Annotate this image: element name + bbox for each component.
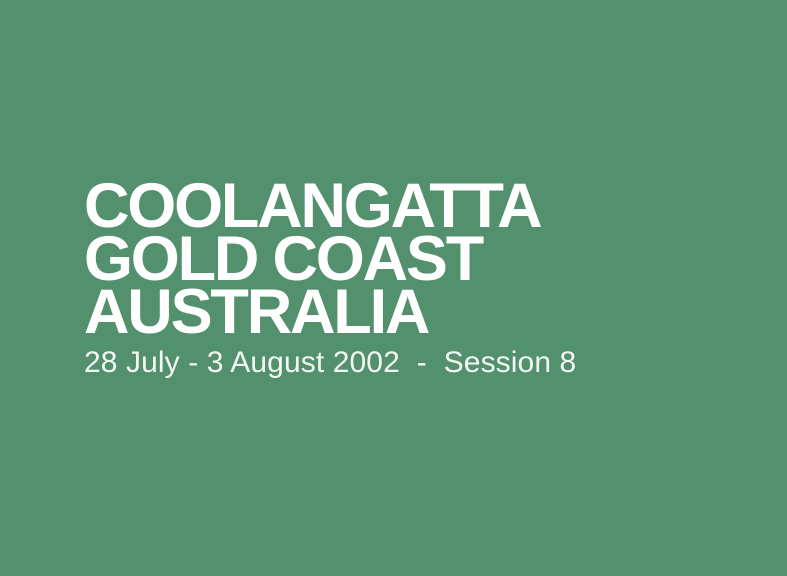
- subtitle-date-and-session: 28 July - 3 August 2002 - Session 8: [84, 346, 744, 380]
- headline-line-location-country: AUSTRALIA: [84, 286, 744, 339]
- title-slide: COOLANGATTA GOLD COAST AUSTRALIA 28 July…: [0, 0, 787, 576]
- title-block: COOLANGATTA GOLD COAST AUSTRALIA 28 July…: [84, 180, 744, 410]
